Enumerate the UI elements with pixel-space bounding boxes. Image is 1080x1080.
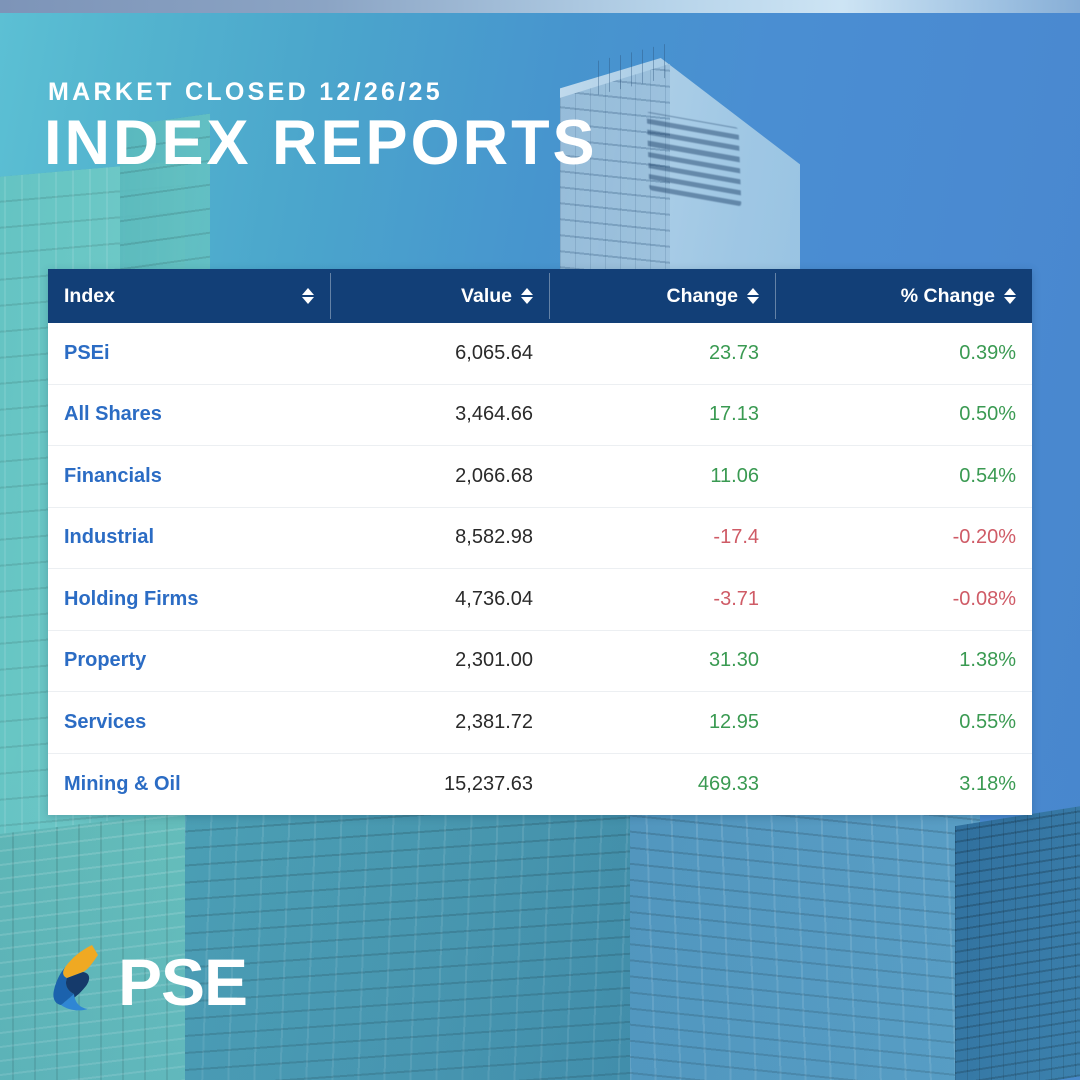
cell-change: 11.06 bbox=[549, 465, 775, 488]
column-header-pct-change-label: % Change bbox=[901, 285, 995, 308]
column-header-index-label: Index bbox=[64, 285, 115, 308]
cell-value: 2,381.72 bbox=[330, 711, 549, 734]
table-row[interactable]: All Shares3,464.6617.130.50% bbox=[48, 385, 1032, 447]
table-row[interactable]: Property2,301.0031.301.38% bbox=[48, 631, 1032, 693]
table-row[interactable]: Financials2,066.6811.060.54% bbox=[48, 446, 1032, 508]
cell-index-name[interactable]: All Shares bbox=[48, 403, 330, 426]
column-header-value[interactable]: Value bbox=[330, 269, 549, 323]
cell-pct-change: 0.50% bbox=[775, 403, 1032, 426]
cell-value: 8,582.98 bbox=[330, 526, 549, 549]
cell-index-name[interactable]: Services bbox=[48, 711, 330, 734]
cell-pct-change: 0.39% bbox=[775, 342, 1032, 365]
table-row[interactable]: Mining & Oil15,237.63469.333.18% bbox=[48, 754, 1032, 816]
cell-value: 4,736.04 bbox=[330, 588, 549, 611]
pse-building-signage bbox=[647, 112, 742, 207]
cell-index-name[interactable]: PSEi bbox=[48, 342, 330, 365]
cell-pct-change: -0.08% bbox=[775, 588, 1032, 611]
cell-pct-change: 0.55% bbox=[775, 711, 1032, 734]
cell-index-name[interactable]: Property bbox=[48, 649, 330, 672]
sort-updown-icon[interactable] bbox=[521, 288, 533, 305]
table-row[interactable]: Industrial8,582.98-17.4-0.20% bbox=[48, 508, 1032, 570]
table-row[interactable]: Services2,381.7212.950.55% bbox=[48, 692, 1032, 754]
cell-value: 3,464.66 bbox=[330, 403, 549, 426]
cell-change: 23.73 bbox=[549, 342, 775, 365]
cell-index-name[interactable]: Mining & Oil bbox=[48, 773, 330, 796]
pse-wordmark: PSE bbox=[118, 949, 247, 1015]
sort-updown-icon[interactable] bbox=[1004, 288, 1016, 305]
cell-change: 12.95 bbox=[549, 711, 775, 734]
cell-pct-change: -0.20% bbox=[775, 526, 1032, 549]
column-header-change-label: Change bbox=[666, 285, 738, 308]
cell-index-name[interactable]: Holding Firms bbox=[48, 588, 330, 611]
column-header-index[interactable]: Index bbox=[48, 269, 330, 323]
cell-pct-change: 0.54% bbox=[775, 465, 1032, 488]
cell-value: 15,237.63 bbox=[330, 773, 549, 796]
cell-pct-change: 1.38% bbox=[775, 649, 1032, 672]
pse-ribbon-icon bbox=[50, 942, 104, 1021]
table-body: PSEi6,065.6423.730.39%All Shares3,464.66… bbox=[48, 323, 1032, 815]
column-header-pct-change[interactable]: % Change bbox=[775, 269, 1032, 323]
table-header-row: Index Value Change % Change bbox=[48, 269, 1032, 323]
cell-index-name[interactable]: Industrial bbox=[48, 526, 330, 549]
sort-updown-icon[interactable] bbox=[747, 288, 759, 305]
cell-change: 17.13 bbox=[549, 403, 775, 426]
cell-change: 31.30 bbox=[549, 649, 775, 672]
cell-value: 6,065.64 bbox=[330, 342, 549, 365]
cell-value: 2,066.68 bbox=[330, 465, 549, 488]
page-title: INDEX REPORTS bbox=[44, 112, 598, 175]
column-header-change[interactable]: Change bbox=[549, 269, 775, 323]
cell-pct-change: 3.18% bbox=[775, 773, 1032, 796]
cell-value: 2,301.00 bbox=[330, 649, 549, 672]
index-reports-table: Index Value Change % Change PSEi6,065.64… bbox=[48, 269, 1032, 815]
cell-index-name[interactable]: Financials bbox=[48, 465, 330, 488]
cell-change: -3.71 bbox=[549, 588, 775, 611]
cell-change: 469.33 bbox=[549, 773, 775, 796]
pse-logo: PSE bbox=[50, 942, 247, 1021]
top-edge-strip bbox=[0, 0, 1080, 13]
column-header-value-label: Value bbox=[461, 285, 512, 308]
cell-change: -17.4 bbox=[549, 526, 775, 549]
market-status-kicker: MARKET CLOSED 12/26/25 bbox=[48, 78, 443, 107]
sort-updown-icon[interactable] bbox=[302, 288, 314, 305]
table-row[interactable]: PSEi6,065.6423.730.39% bbox=[48, 323, 1032, 385]
table-row[interactable]: Holding Firms4,736.04-3.71-0.08% bbox=[48, 569, 1032, 631]
